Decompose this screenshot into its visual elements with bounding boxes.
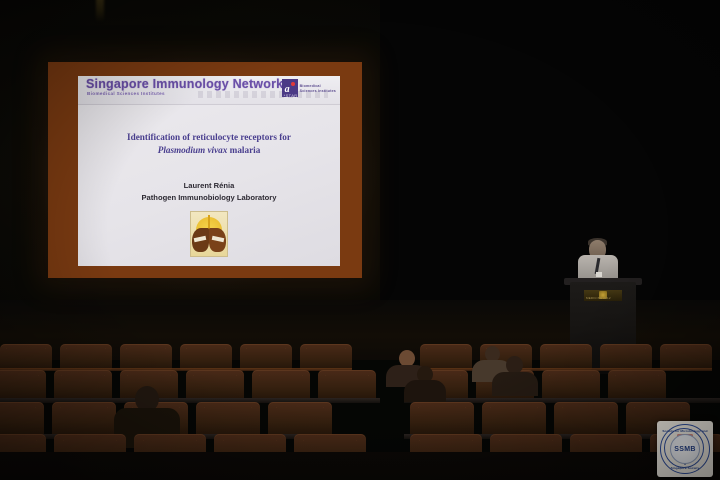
slide-laboratory: Pathogen Immunobiology Laboratory (78, 193, 340, 202)
astar-mark: a *STAR (282, 79, 298, 97)
podium-plaque-text: MEDICINE 2012 (586, 296, 611, 300)
spotlight-icon (96, 0, 104, 22)
seal-center: SSMB (670, 434, 700, 464)
astar-wordmark: Biomedical Sciences Institutes (300, 84, 336, 93)
slide-title: Identification of reticulocyte receptors… (78, 131, 340, 157)
organization-title: Singapore Immunology Network (86, 77, 283, 91)
slide-author: Laurent Rénia (78, 181, 340, 190)
slide-title-species: Plasmodium vivax (158, 145, 228, 155)
slide-title-line1: Identification of reticulocyte receptors… (127, 132, 291, 142)
astar-logo-icon: a *STAR Biomedical Sciences Institutes (282, 79, 336, 97)
presentation-slide: Singapore Immunology Network Biomedical … (78, 76, 340, 266)
seal-outer-ring: Society for Microbiology and Singapore S… (660, 424, 710, 474)
astar-red-dot (291, 82, 295, 86)
slide-header: Singapore Immunology Network Biomedical … (78, 76, 340, 105)
astar-line-2: Sciences Institutes (300, 89, 336, 93)
auditorium-scene: Singapore Immunology Network Biomedical … (0, 0, 720, 480)
projection-screen: Singapore Immunology Network Biomedical … (48, 62, 362, 278)
astar-star-text: *STAR (284, 93, 298, 98)
slide-artwork (190, 211, 228, 257)
seal-arc-top-text: Society for Microbiology and (661, 429, 709, 433)
astar-line-1: Biomedical (300, 84, 336, 88)
slide-body: Identification of reticulocyte receptors… (78, 105, 340, 266)
podium-plaque: MEDICINE 2012 (584, 290, 622, 301)
seal-abbreviation: SSMB (674, 446, 695, 453)
organization-subtitle: Biomedical Sciences Institutes (87, 91, 165, 96)
hall-backdrop-right (380, 0, 720, 350)
organization-seal-icon: Society for Microbiology and Singapore S… (657, 421, 713, 477)
seal-arc-bottom-text: Singapore Society (661, 466, 709, 470)
aisle-floor (0, 452, 720, 480)
speaker-badge (596, 272, 602, 277)
slide-title-tail: malaria (230, 145, 261, 155)
